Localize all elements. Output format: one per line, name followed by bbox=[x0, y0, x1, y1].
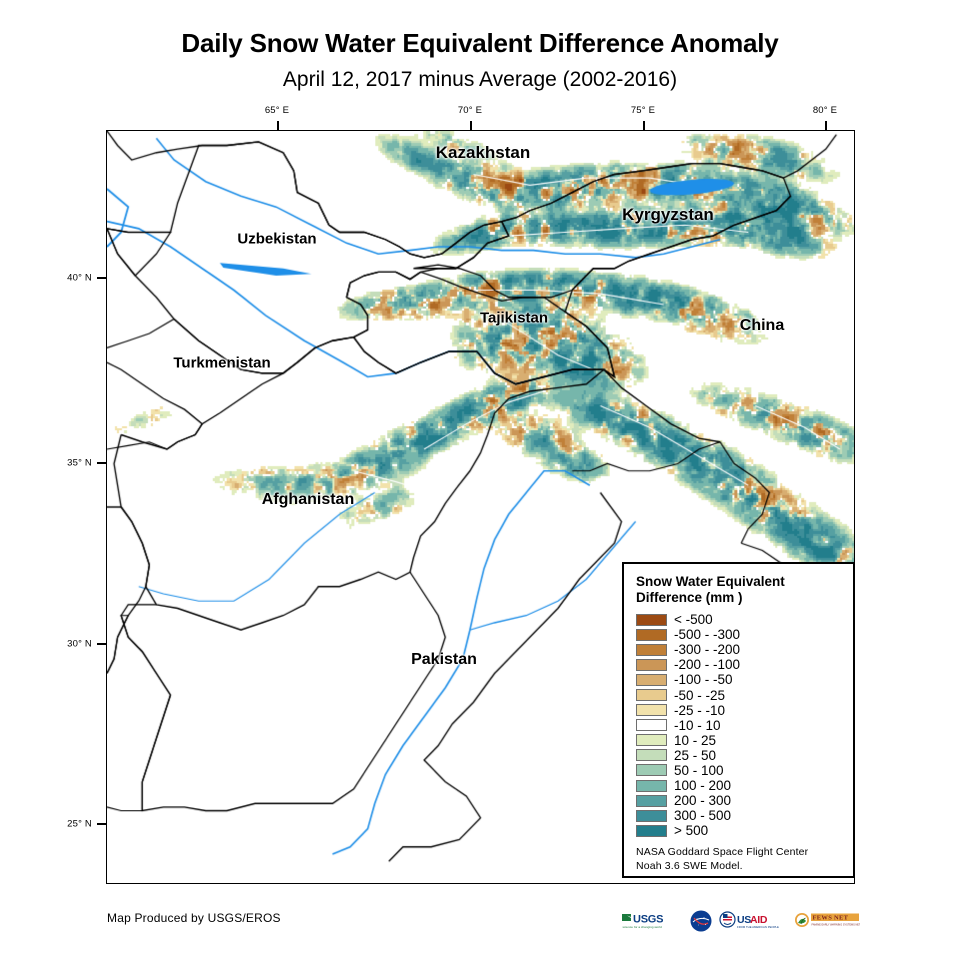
legend-swatch bbox=[636, 659, 667, 671]
legend-title: Snow Water Equivalent Difference (mm ) bbox=[636, 574, 836, 606]
legend-row: -300 - -200 bbox=[636, 642, 853, 657]
country-label-kyrgyzstan: Kyrgyzstan bbox=[622, 205, 714, 225]
legend-row: -200 - -100 bbox=[636, 657, 853, 672]
legend-swatch bbox=[636, 689, 667, 701]
lon-tick-65 bbox=[277, 121, 279, 130]
legend-row: 100 - 200 bbox=[636, 778, 853, 793]
legend-swatch bbox=[636, 764, 667, 776]
usaid-logo: US AID FROM THE AMERICAN PEOPLE bbox=[719, 910, 787, 932]
page-subtitle: April 12, 2017 minus Average (2002-2016) bbox=[0, 68, 960, 92]
legend-row: -25 - -10 bbox=[636, 703, 853, 718]
fewsnet-logo: FEWS NET FAMINE EARLY WARNING SYSTEMS NE… bbox=[794, 910, 860, 932]
legend-swatch bbox=[636, 810, 667, 822]
lon-tick-80 bbox=[825, 121, 827, 130]
legend-swatch bbox=[636, 704, 667, 716]
legend-label: 25 - 50 bbox=[674, 749, 716, 762]
legend-source-note: NASA Goddard Space Flight Center Noah 3.… bbox=[636, 845, 853, 873]
legend-class-list: < -500-500 - -300-300 - -200-200 - -100-… bbox=[636, 612, 853, 838]
legend-label: 200 - 300 bbox=[674, 794, 731, 807]
svg-text:science for a changing world: science for a changing world bbox=[623, 925, 662, 929]
legend-swatch bbox=[636, 795, 667, 807]
legend-swatch bbox=[636, 734, 667, 746]
legend-swatch bbox=[636, 719, 667, 731]
legend-label: > 500 bbox=[674, 824, 708, 837]
legend-swatch bbox=[636, 780, 667, 792]
legend-source-line2: Noah 3.6 SWE Model. bbox=[636, 859, 853, 873]
country-label-china: China bbox=[740, 317, 784, 335]
legend-label: < -500 bbox=[674, 613, 713, 626]
legend-row: < -500 bbox=[636, 612, 853, 627]
country-label-kazakhstan: Kazakhstan bbox=[436, 143, 530, 163]
lon-tick-75 bbox=[643, 121, 645, 130]
legend-label: -10 - 10 bbox=[674, 719, 721, 732]
legend-row: -100 - -50 bbox=[636, 672, 853, 687]
lat-tick-40 bbox=[97, 277, 106, 279]
svg-text:FAMINE EARLY WARNING SYSTEMS N: FAMINE EARLY WARNING SYSTEMS NETWORK bbox=[812, 924, 861, 927]
lon-tick-label-75: 75° E bbox=[631, 105, 655, 116]
svg-text:FEWS NET: FEWS NET bbox=[813, 915, 849, 922]
legend-row: > 500 bbox=[636, 823, 853, 838]
lon-tick-label-70: 70° E bbox=[458, 105, 482, 116]
lat-tick-30 bbox=[97, 643, 106, 645]
legend-swatch bbox=[636, 644, 667, 656]
legend-source-line1: NASA Goddard Space Flight Center bbox=[636, 845, 853, 859]
lat-tick-35 bbox=[97, 462, 106, 464]
agency-logo-strip: USGS science for a changing world US AID… bbox=[621, 906, 860, 936]
legend-swatch bbox=[636, 674, 667, 686]
legend-row: -50 - -25 bbox=[636, 687, 853, 702]
svg-text:AID: AID bbox=[750, 914, 768, 926]
country-label-pakistan: Pakistan bbox=[411, 651, 477, 669]
svg-text:US: US bbox=[737, 914, 751, 926]
lon-tick-label-65: 65° E bbox=[265, 105, 289, 116]
legend-row: 50 - 100 bbox=[636, 763, 853, 778]
lat-tick-label-25: 25° N bbox=[67, 819, 92, 830]
legend-label: -100 - -50 bbox=[674, 673, 733, 686]
map-credit: Map Produced by USGS/EROS bbox=[107, 911, 281, 925]
lon-tick-label-80: 80° E bbox=[813, 105, 837, 116]
legend-label: 10 - 25 bbox=[674, 734, 716, 747]
lat-tick-25 bbox=[97, 823, 106, 825]
legend-label: 300 - 500 bbox=[674, 809, 731, 822]
lon-tick-70 bbox=[470, 121, 472, 130]
legend-row: -10 - 10 bbox=[636, 718, 853, 733]
legend-swatch bbox=[636, 749, 667, 761]
nasa-logo bbox=[690, 910, 712, 932]
legend-swatch bbox=[636, 629, 667, 641]
country-label-turkmenistan: Turkmenistan bbox=[173, 355, 270, 372]
legend-label: 50 - 100 bbox=[674, 764, 724, 777]
country-label-tajikistan: Tajikistan bbox=[480, 310, 548, 327]
lat-tick-label-40: 40° N bbox=[67, 273, 92, 284]
svg-text:FROM THE AMERICAN PEOPLE: FROM THE AMERICAN PEOPLE bbox=[737, 925, 779, 929]
legend-label: -50 - -25 bbox=[674, 689, 725, 702]
legend-swatch bbox=[636, 825, 667, 837]
legend-label: 100 - 200 bbox=[674, 779, 731, 792]
legend-panel: Snow Water Equivalent Difference (mm ) <… bbox=[622, 562, 855, 878]
legend-label: -25 - -10 bbox=[674, 704, 725, 717]
legend-row: 10 - 25 bbox=[636, 733, 853, 748]
legend-label: -300 - -200 bbox=[674, 643, 740, 656]
svg-text:USGS: USGS bbox=[633, 914, 663, 926]
page-title: Daily Snow Water Equivalent Difference A… bbox=[0, 28, 960, 59]
country-label-uzbekistan: Uzbekistan bbox=[237, 231, 316, 248]
legend-title-line1: Snow Water Equivalent bbox=[636, 574, 836, 590]
legend-label: -500 - -300 bbox=[674, 628, 740, 641]
legend-row: 25 - 50 bbox=[636, 748, 853, 763]
legend-title-line2: Difference (mm ) bbox=[636, 590, 836, 606]
legend-label: -200 - -100 bbox=[674, 658, 740, 671]
lat-tick-label-35: 35° N bbox=[67, 458, 92, 469]
lat-tick-label-30: 30° N bbox=[67, 639, 92, 650]
legend-row: 300 - 500 bbox=[636, 808, 853, 823]
legend-row: -500 - -300 bbox=[636, 627, 853, 642]
usgs-logo: USGS science for a changing world bbox=[621, 910, 683, 932]
legend-row: 200 - 300 bbox=[636, 793, 853, 808]
country-label-afghanistan: Afghanistan bbox=[262, 491, 354, 509]
legend-swatch bbox=[636, 614, 667, 626]
